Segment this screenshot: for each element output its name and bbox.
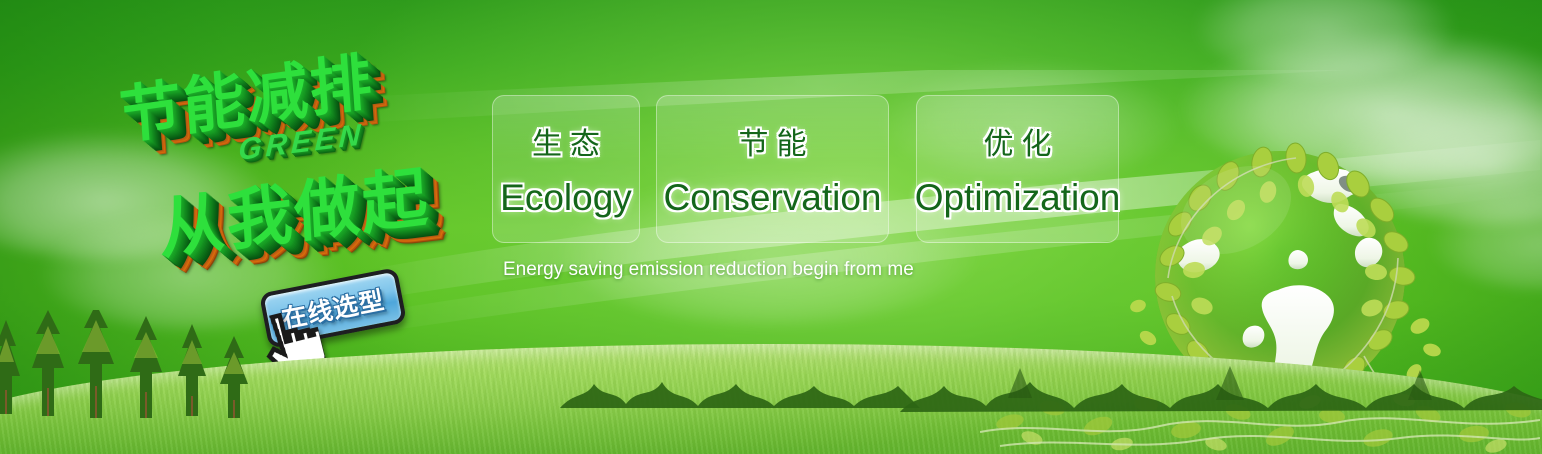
eco-promo-banner: 节能减排 GREEN 从我做起 在线选型 生态 Ecology 节能 Conse… xyxy=(0,0,1542,454)
feature-card-title-en: Ecology xyxy=(500,177,632,219)
headline-line-top: 节能减排 xyxy=(116,30,376,156)
feature-card-title-en: Optimization xyxy=(915,177,1121,219)
feature-card-ecology[interactable]: 生态 Ecology xyxy=(492,95,640,243)
feature-card-title-cn: 生态 xyxy=(524,119,608,163)
headline-line-bottom: 从我做起 xyxy=(156,143,431,272)
feature-card-optimization[interactable]: 优化 Optimization xyxy=(916,95,1119,243)
cloud-icon xyxy=(0,130,270,260)
feature-card-title-cn: 节能 xyxy=(731,119,815,163)
headline-line-green: GREEN xyxy=(238,118,366,168)
banner-subtitle: Energy saving emission reduction begin f… xyxy=(503,259,914,281)
headline-3d: 节能减排 GREEN 从我做起 xyxy=(100,38,500,288)
feature-card-title-cn: 优化 xyxy=(976,119,1060,163)
feature-card-title-en: Conservation xyxy=(663,177,881,219)
feature-card-conservation[interactable]: 节能 Conservation xyxy=(656,95,889,243)
cloud-icon xyxy=(1195,0,1455,80)
